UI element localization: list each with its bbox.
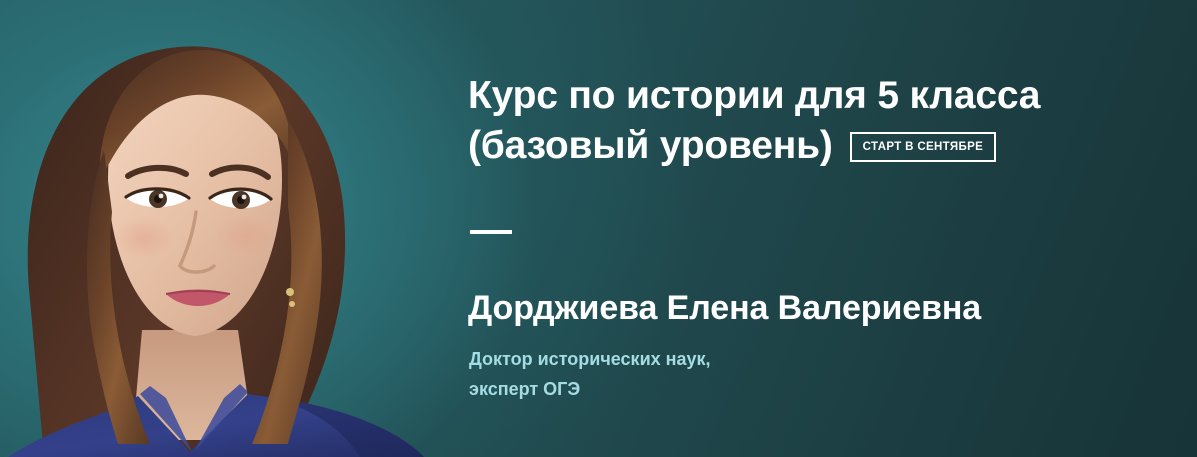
start-date-badge: СТАРТ В СЕНТЯБРЕ xyxy=(850,132,997,163)
course-title-block: Курс по истории для 5 класса (базовый ур… xyxy=(468,71,1168,171)
course-hero-banner: Курс по истории для 5 класса (базовый ур… xyxy=(0,0,1197,457)
section-divider xyxy=(470,230,512,234)
instructor-portrait xyxy=(0,0,440,457)
course-title-line-1: Курс по истории для 5 класса xyxy=(468,71,1168,121)
instructor-portrait-image xyxy=(0,0,440,457)
instructor-name: Дорджиева Елена Валериевна xyxy=(468,288,981,328)
course-title-line-2: (базовый уровень) xyxy=(468,121,833,171)
instructor-role: Доктор исторических наук, эксперт ОГЭ xyxy=(469,344,711,404)
instructor-role-line-1: Доктор исторических наук, xyxy=(469,344,711,374)
course-title-line-2-row: (базовый уровень) СТАРТ В СЕНТЯБРЕ xyxy=(468,121,1168,171)
banner-content: Курс по истории для 5 класса (базовый ур… xyxy=(468,0,1168,457)
instructor-role-line-2: эксперт ОГЭ xyxy=(469,374,711,404)
